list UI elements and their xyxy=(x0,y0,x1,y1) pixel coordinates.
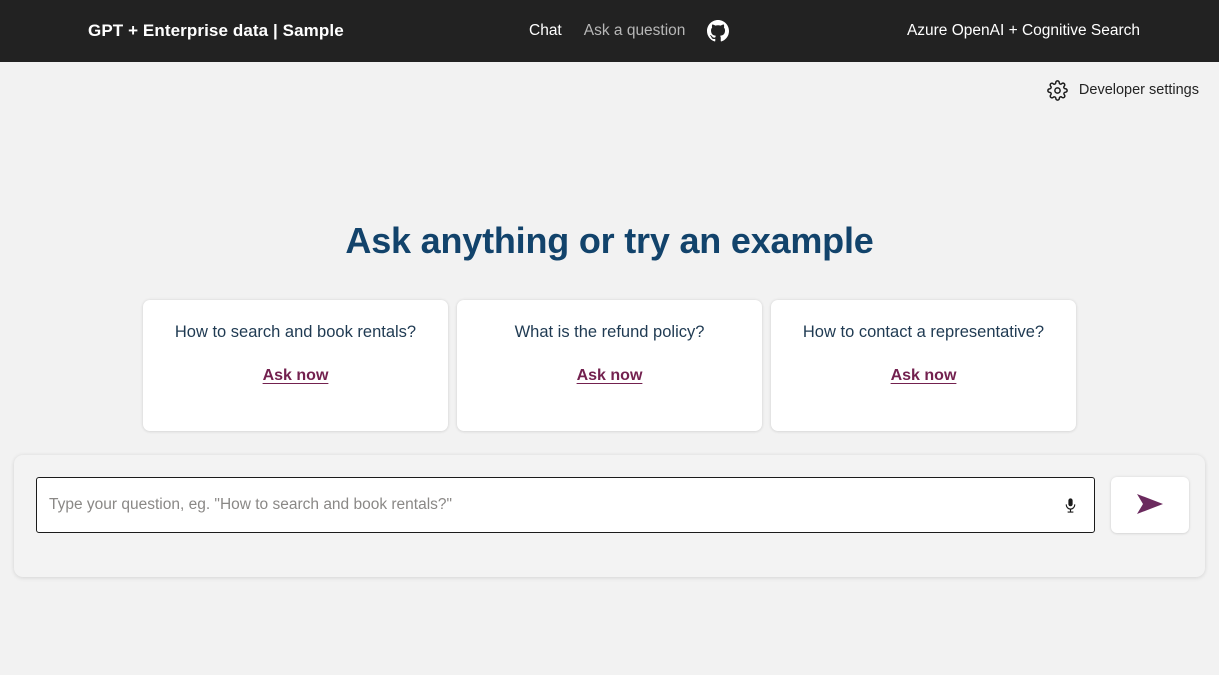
developer-settings-button[interactable]: Developer settings xyxy=(1045,75,1201,105)
example-question: What is the refund policy? xyxy=(515,322,705,343)
app-title: GPT + Enterprise data | Sample xyxy=(88,21,344,41)
example-question: How to contact a representative? xyxy=(803,322,1044,343)
nav-chat[interactable]: Chat xyxy=(529,22,562,40)
chat-input-container xyxy=(14,455,1205,577)
header-nav: Chat Ask a question xyxy=(529,20,729,42)
send-arrow-icon xyxy=(1133,490,1167,521)
header-subtitle: Azure OpenAI + Cognitive Search xyxy=(907,22,1140,40)
app-header: GPT + Enterprise data | Sample Chat Ask … xyxy=(0,0,1219,62)
example-list: How to search and book rentals? Ask now … xyxy=(143,300,1076,431)
question-input-shell[interactable] xyxy=(36,477,1095,533)
settings-bar: Developer settings xyxy=(0,62,1219,118)
nav-ask-a-question[interactable]: Ask a question xyxy=(584,22,686,40)
example-card[interactable]: What is the refund policy? Ask now xyxy=(457,300,762,431)
example-ask-now-link[interactable]: Ask now xyxy=(263,367,329,385)
gear-icon xyxy=(1047,79,1069,101)
example-question: How to search and book rentals? xyxy=(175,322,416,343)
github-icon[interactable] xyxy=(707,20,729,42)
microphone-icon[interactable] xyxy=(1058,492,1082,518)
page-title: Ask anything or try an example xyxy=(345,220,873,262)
developer-settings-label: Developer settings xyxy=(1079,82,1199,98)
example-ask-now-link[interactable]: Ask now xyxy=(577,367,643,385)
example-card[interactable]: How to contact a representative? Ask now xyxy=(771,300,1076,431)
send-question-button[interactable] xyxy=(1111,477,1189,533)
question-input[interactable] xyxy=(49,478,1052,532)
example-card[interactable]: How to search and book rentals? Ask now xyxy=(143,300,448,431)
main-empty-state: Ask anything or try an example How to se… xyxy=(0,118,1219,675)
example-ask-now-link[interactable]: Ask now xyxy=(891,367,957,385)
